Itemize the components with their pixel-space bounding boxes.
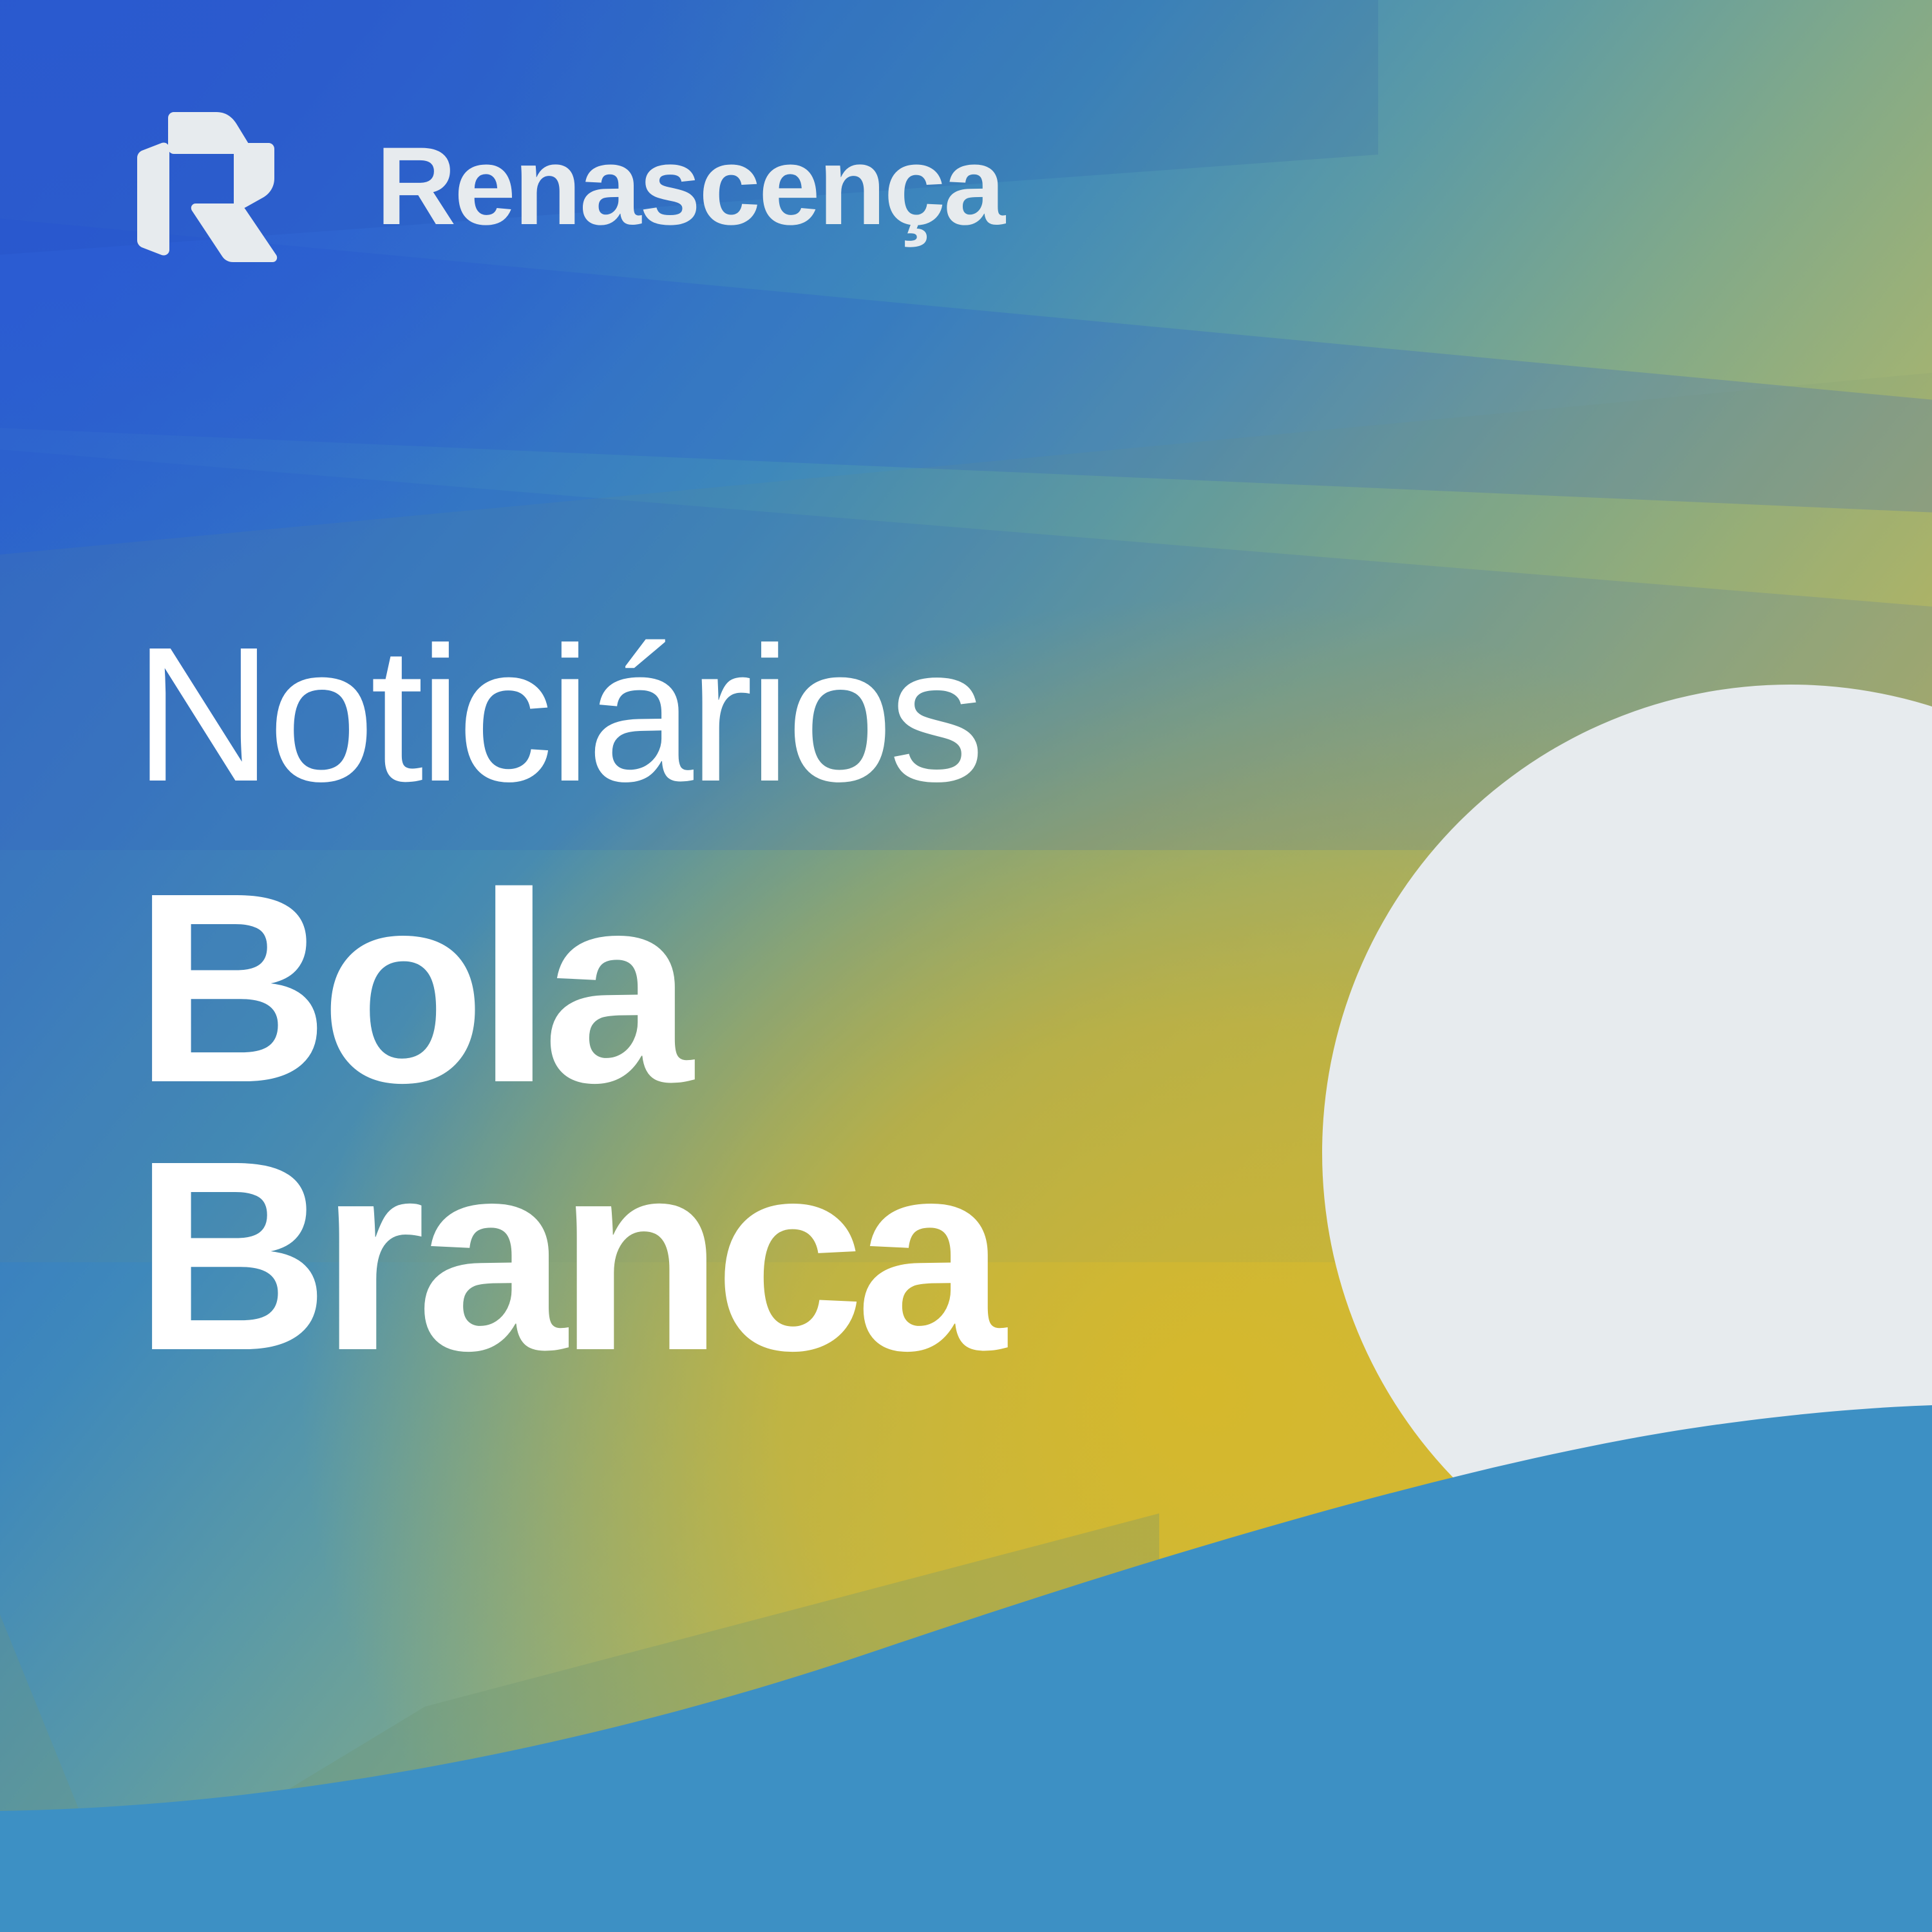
podcast-cover-art: Renascença Noticiários Bola Branca <box>0 0 1932 1932</box>
title-kicker: Noticiários <box>134 615 997 815</box>
title-block: Noticiários Bola Branca <box>134 615 997 1390</box>
brand-logo: Renascença <box>126 97 1003 276</box>
title-line-one: Bola <box>134 855 997 1122</box>
brand-wordmark: Renascença <box>376 131 1003 241</box>
page-title: Bola Branca <box>134 855 997 1390</box>
title-line-two: Branca <box>134 1122 997 1390</box>
renascenca-r-monogram-icon <box>126 97 305 276</box>
